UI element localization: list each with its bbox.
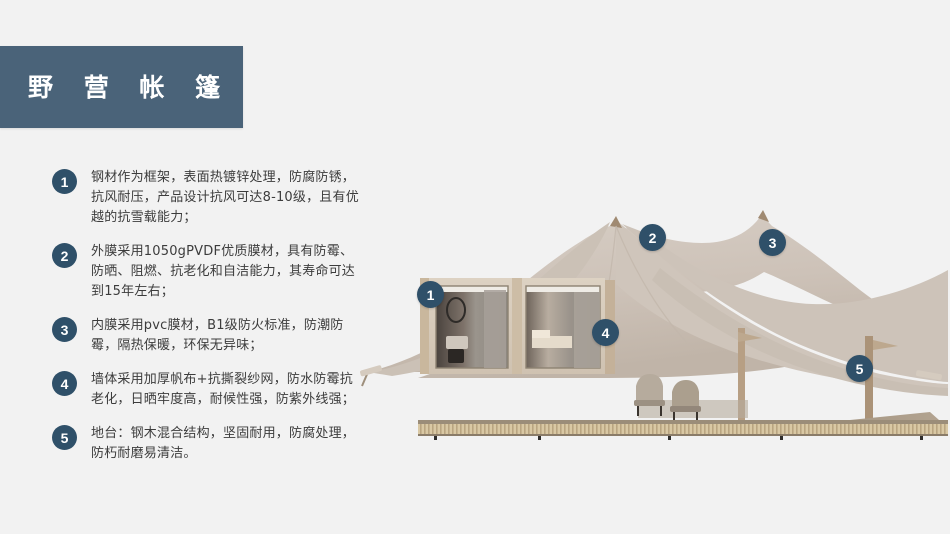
tent-illustration: 野 游 營 居 <box>360 150 950 440</box>
slide-root: 野 营 帐 篷 1 钢材作为框架，表面热镀锌处理，防腐防锈，抗风耐压，产品设计抗… <box>0 0 950 534</box>
veranda-post-right <box>865 336 873 432</box>
callout-marker-2[interactable]: 2 <box>639 224 666 251</box>
cabin-center-mullion <box>512 278 522 374</box>
tent-graphic <box>360 150 950 440</box>
feature-text: 地台：钢木混合结构，坚固耐用，防腐处理，防朽耐磨易清洁。 <box>91 424 362 464</box>
bathroom-curtain <box>484 290 506 368</box>
armchair-left <box>636 374 663 402</box>
feature-text: 墙体采用加厚帆布+抗撕裂纱网，防水防霉抗老化，日晒牢度高，耐候性强，防紫外线强； <box>91 370 362 410</box>
armchair-right-seat <box>670 406 701 412</box>
feature-number-badge: 2 <box>52 243 77 268</box>
feature-number-badge: 4 <box>52 371 77 396</box>
feature-number-badge: 3 <box>52 317 77 342</box>
window-right-header <box>526 286 600 292</box>
page-title: 野 营 帐 篷 <box>0 75 231 100</box>
deck-leg <box>780 436 783 440</box>
feature-number-badge: 1 <box>52 169 77 194</box>
deck-leg <box>434 436 437 440</box>
tension-arm-left <box>360 365 382 377</box>
feature-text: 外膜采用1050gPVDF优质膜材，具有防霉、防晒、阻燃、抗老化和自洁能力，其寿… <box>91 242 362 302</box>
list-item: 3 内膜采用pvc膜材，B1级防火标准，防潮防霉，隔热保暖，环保无异味； <box>52 316 362 356</box>
deck-surface <box>418 420 948 424</box>
callout-marker-5[interactable]: 5 <box>846 355 873 382</box>
armchair-left-seat <box>634 400 665 406</box>
deck-leg <box>920 436 923 440</box>
callout-marker-4[interactable]: 4 <box>592 319 619 346</box>
armchair-right <box>672 380 699 408</box>
bathroom-basin <box>446 336 468 349</box>
feature-text: 钢材作为框架，表面热镀锌处理，防腐防锈，抗风耐压，产品设计抗风可达8-10级，且… <box>91 168 362 228</box>
list-item: 1 钢材作为框架，表面热镀锌处理，防腐防锈，抗风耐压，产品设计抗风可达8-10级… <box>52 168 362 228</box>
title-banner: 野 营 帐 篷 <box>0 46 243 128</box>
deck-leg <box>668 436 671 440</box>
list-item: 5 地台：钢木混合结构，坚固耐用，防腐处理，防朽耐磨易清洁。 <box>52 424 362 464</box>
feature-text: 内膜采用pvc膜材，B1级防火标准，防潮防霉，隔热保暖，环保无异味； <box>91 316 362 356</box>
deck-edge-shadow <box>418 434 948 436</box>
feature-list: 1 钢材作为框架，表面热镀锌处理，防腐防锈，抗风耐压，产品设计抗风可达8-10级… <box>52 168 362 478</box>
armchair-left-leg <box>637 406 639 416</box>
bathroom-cabinet <box>448 349 464 363</box>
platform-deck-edge <box>418 424 948 434</box>
list-item: 2 外膜采用1050gPVDF优质膜材，具有防霉、防晒、阻燃、抗老化和自洁能力，… <box>52 242 362 302</box>
bed-pillow <box>532 330 550 338</box>
armchair-left-leg <box>660 406 662 416</box>
callout-marker-1[interactable]: 1 <box>417 281 444 308</box>
list-item: 4 墙体采用加厚帆布+抗撕裂纱网，防水防霉抗老化，日晒牢度高，耐候性强，防紫外线… <box>52 370 362 410</box>
callout-marker-3[interactable]: 3 <box>759 229 786 256</box>
deck-leg <box>538 436 541 440</box>
feature-number-badge: 5 <box>52 425 77 450</box>
